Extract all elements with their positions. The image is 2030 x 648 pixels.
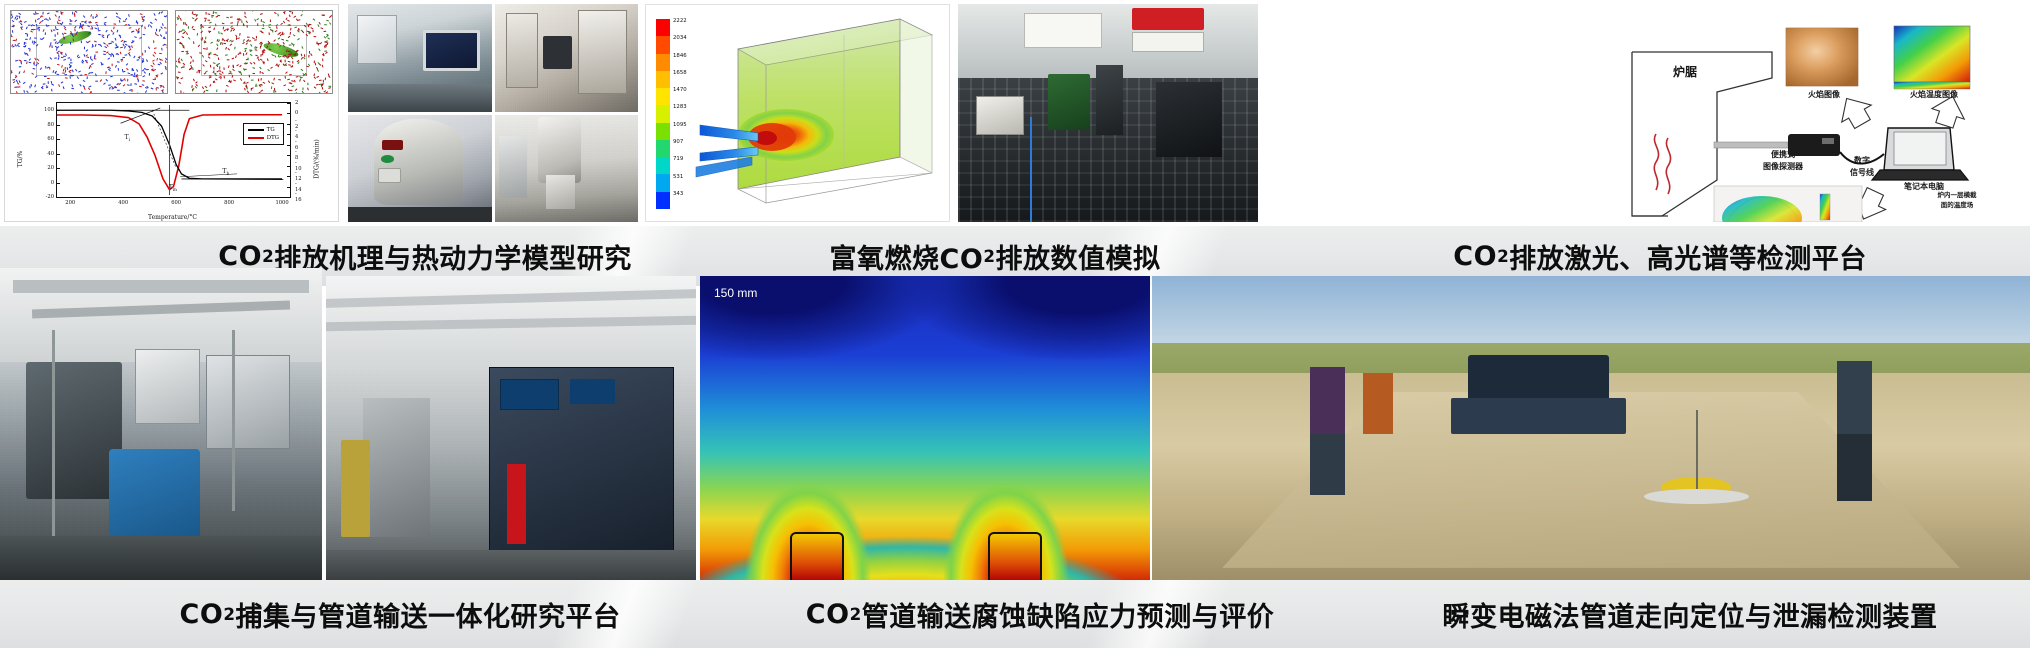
caption-band-bottom: CO2捕集与管道输送一体化研究平台 CO2管道输送腐蚀缺陷应力预测与评价 瞬变电… [0, 580, 2030, 648]
photo-field-survey [1152, 276, 2030, 580]
chart-x-axis-label: Temperature/°C [148, 214, 197, 221]
photo-pipeline-plant [326, 276, 696, 580]
legend-item-tg: TG [248, 126, 279, 134]
colorbar-tick-label: 1846 [673, 53, 687, 59]
y-tick-label: 80 [47, 122, 54, 128]
photo-optical-bench [958, 4, 1258, 222]
schematic-label-flame-temp-image: 火焰温度图像 [1894, 90, 1974, 99]
md-simulation-box-blue [10, 10, 168, 94]
schematic-label-detector-line2: 图像探测器 [1740, 162, 1826, 171]
photo-lab-workstation [348, 4, 492, 112]
panel-pipeline-plant [326, 276, 696, 580]
schematic-label-detector-line1: 便携式 [1748, 150, 1818, 159]
schematic-label-laptop: 笔记本电脑 [1884, 182, 1964, 191]
panel-oxyfuel-cfd-simulation: 2222203418461658147012831095907719531343 [645, 4, 950, 222]
y2-tick-label: 0 [295, 110, 298, 116]
y-tick-label: 100 [44, 107, 54, 113]
colorbar-segment [656, 36, 670, 53]
colorbar-tick-label: 2222 [673, 18, 687, 24]
colorbar-tick-label: 1283 [673, 104, 687, 110]
legend-swatch-tg [248, 129, 264, 130]
photo-reactor-vessel [495, 115, 639, 223]
md-particles-red [176, 11, 333, 94]
colorbar-tick-label: 531 [673, 174, 683, 180]
schematic-label-surface-line2: 面的温度场 [1918, 202, 1996, 209]
colorbar-segment [656, 174, 670, 191]
colorbar-tick-label: 1470 [673, 87, 687, 93]
panel-laser-optical-bench [958, 4, 1258, 222]
colorbar-tick-label: 907 [673, 139, 683, 145]
schematic-drawing [1622, 4, 2026, 222]
caption-tem-pipeline-leak-detection: 瞬变电磁法管道走向定位与泄漏检测装置 [1360, 580, 2020, 648]
legend-swatch-dtg [248, 137, 264, 139]
y-tick-label: -20 [46, 194, 54, 200]
schematic-label-signal-line1: 数字 [1838, 156, 1886, 165]
caption-pipeline-corrosion-stress: CO2管道输送腐蚀缺陷应力预测与评价 [740, 580, 1340, 648]
schematic-label-signal-line2: 信号线 [1832, 168, 1892, 177]
chart-plot-area: -20020406080100 20- 2- 4- 6- 8- 10- 12- … [56, 102, 291, 198]
chart-legend: TG DTG [243, 123, 284, 145]
y2-tick-label: - 16 [295, 191, 302, 203]
colorbar-tick-label: 343 [673, 191, 683, 197]
chart-annotation-tm: Tm [169, 184, 177, 192]
caption-capture-pipeline-platform: CO2捕集与管道输送一体化研究平台 [100, 580, 700, 648]
colorbar-tick-label: 2034 [673, 35, 687, 41]
legend-label-dtg: DTG [267, 134, 279, 142]
y-tick-label: 20 [47, 165, 54, 171]
colorbar-tick-label: 1658 [673, 70, 687, 76]
stress-defect-cylinder-left [790, 532, 844, 580]
colorbar-segment [656, 71, 670, 88]
y-tick-label: 40 [47, 151, 54, 157]
photo-lab-instrument-rack [495, 4, 639, 112]
y2-tick-mark [287, 197, 290, 198]
x-tick-label: 1000 [275, 200, 288, 206]
x-tick-label: 600 [171, 200, 181, 206]
colorbar-segment [656, 140, 670, 157]
legend-item-dtg: DTG [248, 134, 279, 142]
schematic-label-furnace: 炉腒 [1650, 66, 1720, 80]
chart-annotation-tb: Tb [222, 168, 229, 176]
scale-label-150mm: 150 mm [714, 286, 757, 300]
y2-tick-label: 2 [295, 100, 298, 106]
md-simulation-box-red [175, 10, 333, 94]
stress-contour-field [700, 276, 1150, 580]
x-tick-label: 400 [118, 200, 128, 206]
poster-root: TG/% DTG/(%/min) Temperature/°C -2002040… [0, 0, 2030, 648]
colorbar-segment [656, 54, 670, 71]
cfd-colorbar [656, 19, 670, 209]
y-tick-mark [57, 197, 60, 198]
colorbar-segment [656, 88, 670, 105]
colorbar-segment [656, 157, 670, 174]
colorbar-segment [656, 105, 670, 122]
chart-annotation-ti: Ti [125, 134, 130, 142]
photo-capture-pipeline-rig [0, 268, 322, 580]
colorbar-tick-label: 719 [673, 156, 683, 162]
cfd-domain-render [694, 7, 949, 222]
photo-analyzer-front [348, 115, 492, 223]
photo-grid [348, 4, 638, 222]
legend-label-tg: TG [267, 126, 275, 134]
panel-pipeline-stress-contour: 150 mm [700, 276, 1150, 580]
chart-y2-axis-label: DTG/(%/min) [314, 139, 321, 179]
stress-defect-cylinder-right [988, 532, 1042, 580]
schematic-label-flame-image: 火焰图像 [1792, 90, 1856, 99]
colorbar-segment [656, 192, 670, 209]
schematic-label-surface-line1: 炉内一层横截 [1918, 192, 1996, 199]
panel-co2-emission-mechanism: TG/% DTG/(%/min) Temperature/°C -2002040… [4, 4, 339, 222]
tg-dtg-chart: TG/% DTG/(%/min) Temperature/°C -2002040… [10, 98, 335, 220]
colorbar-segment [656, 19, 670, 36]
colorbar-segment [656, 123, 670, 140]
x-tick-label: 200 [65, 200, 75, 206]
chart-y-axis-label: TG/% [17, 151, 24, 168]
colorbar-tick-label: 1095 [673, 122, 687, 128]
panel-lab-equipment-photos [348, 4, 638, 222]
panel-flame-detection-schematic: 炉腒 火焰图像 火焰温度图像 便携式 图像探测器 数字 信号线 笔记本电脑 炉内… [1622, 4, 2026, 222]
y-tick-label: 0 [51, 180, 54, 186]
x-tick-label: 800 [224, 200, 234, 206]
panel-tem-field-survey [1152, 276, 2030, 580]
y-tick-label: 60 [47, 136, 54, 142]
md-particles-blue [11, 11, 168, 94]
panel-capture-pipeline-rig [0, 268, 322, 580]
